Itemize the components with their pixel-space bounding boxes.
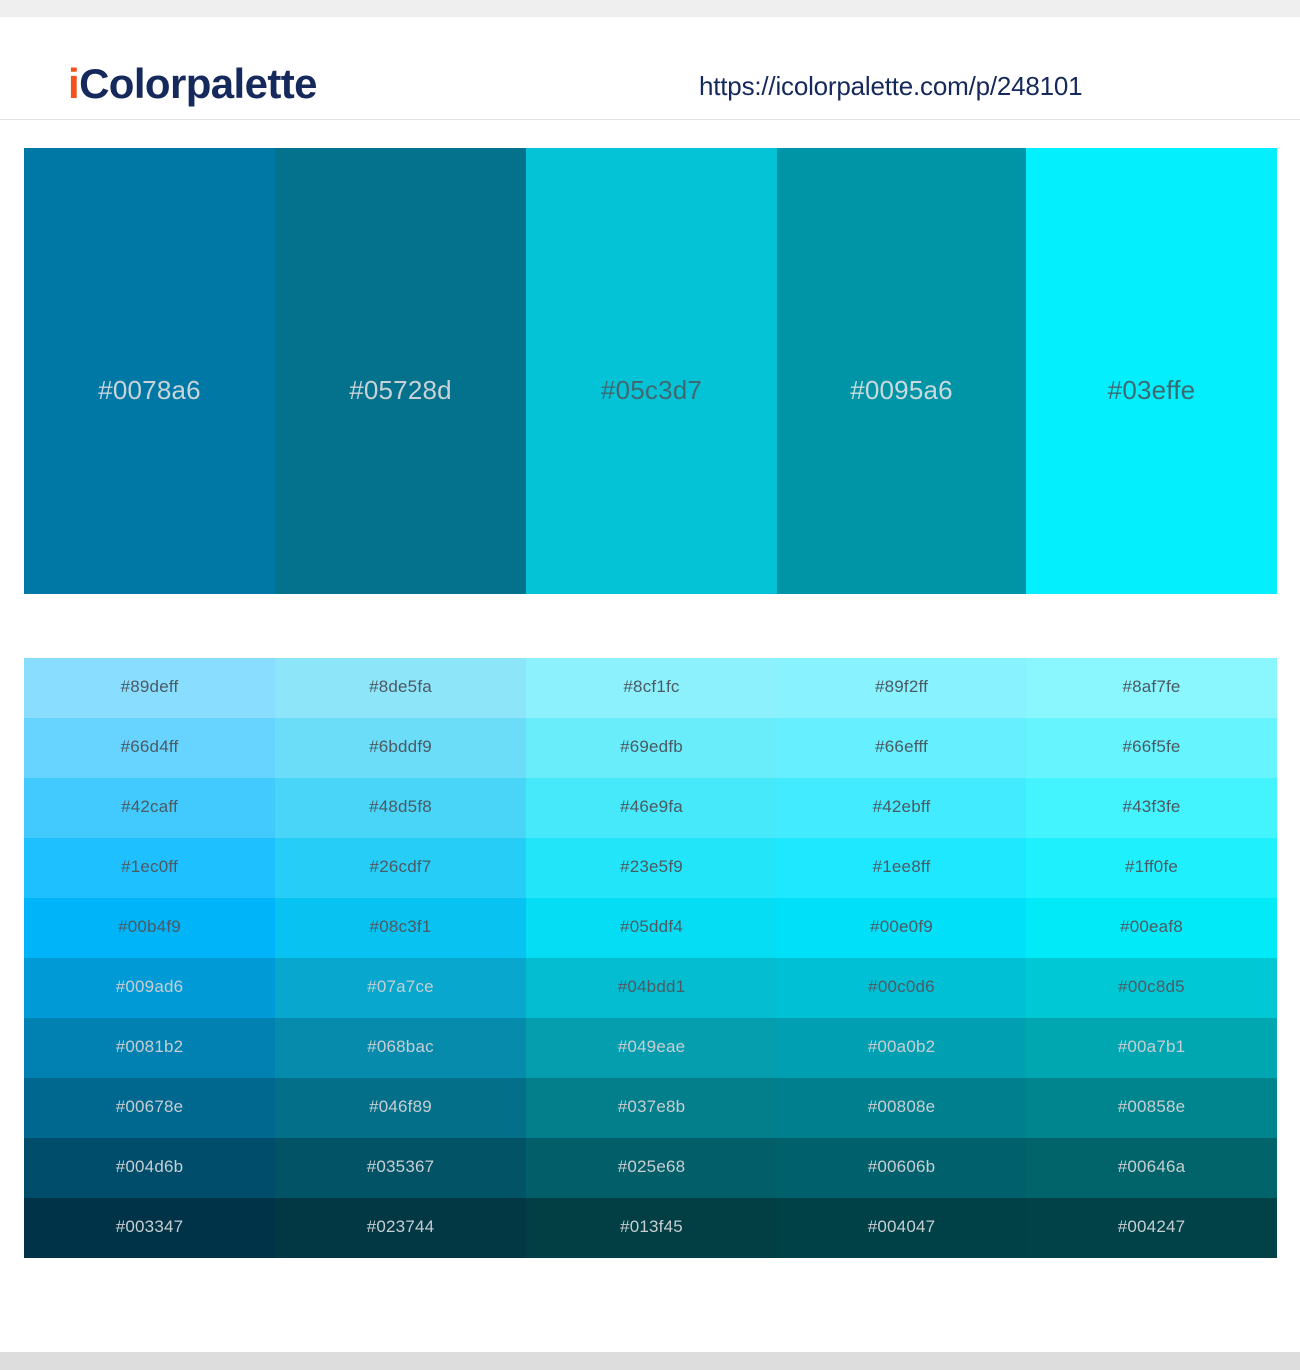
shade-cell[interactable]: #05ddf4 [526, 898, 777, 958]
palette-swatch[interactable]: #0095a6 [777, 148, 1026, 594]
shade-row: #00678e#046f89#037e8b#00808e#00858e [24, 1078, 1277, 1138]
shade-hex-label: #009ad6 [24, 977, 275, 997]
shade-hex-label: #26cdf7 [275, 857, 526, 877]
shade-hex-label: #00646a [1026, 1157, 1277, 1177]
shade-hex-label: #00b4f9 [24, 917, 275, 937]
shade-cell[interactable]: #00606b [777, 1138, 1026, 1198]
shade-cell[interactable]: #037e8b [526, 1078, 777, 1138]
shade-hex-label: #003347 [24, 1217, 275, 1237]
shade-cell[interactable]: #00678e [24, 1078, 275, 1138]
logo-letter-i: i [68, 60, 79, 107]
shade-hex-label: #23e5f9 [526, 857, 777, 877]
shade-hex-label: #89f2ff [777, 677, 1026, 697]
palette-swatch[interactable]: #0078a6 [24, 148, 275, 594]
shade-hex-label: #1ec0ff [24, 857, 275, 877]
palette-swatch-hex-label: #05c3d7 [526, 375, 777, 406]
shade-hex-label: #049eae [526, 1037, 777, 1057]
shade-cell[interactable]: #1ee8ff [777, 838, 1026, 898]
shade-cell[interactable]: #08c3f1 [275, 898, 526, 958]
shade-hex-label: #00c0d6 [777, 977, 1026, 997]
shade-hex-label: #8cf1fc [526, 677, 777, 697]
shade-hex-label: #00eaf8 [1026, 917, 1277, 937]
shade-cell[interactable]: #00eaf8 [1026, 898, 1277, 958]
top-decorative-strip [0, 0, 1300, 17]
shade-hex-label: #05ddf4 [526, 917, 777, 937]
shade-cell[interactable]: #004047 [777, 1198, 1026, 1258]
shade-cell[interactable]: #00e0f9 [777, 898, 1026, 958]
shade-hex-label: #013f45 [526, 1217, 777, 1237]
shade-hex-label: #66f5fe [1026, 737, 1277, 757]
palette-swatch[interactable]: #03effe [1026, 148, 1277, 594]
shade-hex-label: #00606b [777, 1157, 1026, 1177]
shade-hex-label: #46e9fa [526, 797, 777, 817]
shade-hex-label: #42caff [24, 797, 275, 817]
palette-swatch-hex-label: #05728d [275, 375, 526, 406]
palette-swatch-hex-label: #0078a6 [24, 375, 275, 406]
shade-row: #00b4f9#08c3f1#05ddf4#00e0f9#00eaf8 [24, 898, 1277, 958]
shade-cell[interactable]: #66d4ff [24, 718, 275, 778]
shade-hex-label: #8de5fa [275, 677, 526, 697]
shade-hex-label: #6bddf9 [275, 737, 526, 757]
shade-cell[interactable]: #0081b2 [24, 1018, 275, 1078]
site-header: iColorpalette https://icolorpalette.com/… [0, 17, 1300, 120]
shade-hex-label: #00a7b1 [1026, 1037, 1277, 1057]
shade-cell[interactable]: #00a7b1 [1026, 1018, 1277, 1078]
shade-hex-label: #04bdd1 [526, 977, 777, 997]
shade-cell[interactable]: #023744 [275, 1198, 526, 1258]
main-palette-swatches: #0078a6#05728d#05c3d7#0095a6#03effe [24, 148, 1277, 594]
shade-cell[interactable]: #1ff0fe [1026, 838, 1277, 898]
shade-hex-label: #00a0b2 [777, 1037, 1026, 1057]
shade-row: #004d6b#035367#025e68#00606b#00646a [24, 1138, 1277, 1198]
shade-hex-label: #00858e [1026, 1097, 1277, 1117]
shade-cell[interactable]: #00a0b2 [777, 1018, 1026, 1078]
shade-row: #1ec0ff#26cdf7#23e5f9#1ee8ff#1ff0fe [24, 838, 1277, 898]
shade-row: #66d4ff#6bddf9#69edfb#66efff#66f5fe [24, 718, 1277, 778]
palette-url: https://icolorpalette.com/p/248101 [699, 71, 1082, 102]
shade-cell[interactable]: #69edfb [526, 718, 777, 778]
shade-cell[interactable]: #025e68 [526, 1138, 777, 1198]
shades-grid: #89deff#8de5fa#8cf1fc#89f2ff#8af7fe#66d4… [24, 658, 1277, 1258]
shade-cell[interactable]: #46e9fa [526, 778, 777, 838]
shade-hex-label: #1ff0fe [1026, 857, 1277, 877]
shade-hex-label: #89deff [24, 677, 275, 697]
shade-cell[interactable]: #00808e [777, 1078, 1026, 1138]
shade-hex-label: #1ee8ff [777, 857, 1026, 877]
shade-cell[interactable]: #8de5fa [275, 658, 526, 718]
shade-cell[interactable]: #004247 [1026, 1198, 1277, 1258]
shade-cell[interactable]: #66f5fe [1026, 718, 1277, 778]
shade-cell[interactable]: #00c8d5 [1026, 958, 1277, 1018]
shade-hex-label: #0081b2 [24, 1037, 275, 1057]
shade-hex-label: #00e0f9 [777, 917, 1026, 937]
logo-wordmark: Colorpalette [79, 60, 317, 107]
shade-cell[interactable]: #035367 [275, 1138, 526, 1198]
shade-hex-label: #00c8d5 [1026, 977, 1277, 997]
shade-cell[interactable]: #89f2ff [777, 658, 1026, 718]
shade-hex-label: #07a7ce [275, 977, 526, 997]
shade-row: #42caff#48d5f8#46e9fa#42ebff#43f3fe [24, 778, 1277, 838]
shade-cell[interactable]: #013f45 [526, 1198, 777, 1258]
palette-swatch-hex-label: #0095a6 [777, 375, 1026, 406]
shade-cell[interactable]: #003347 [24, 1198, 275, 1258]
shade-hex-label: #08c3f1 [275, 917, 526, 937]
shade-cell[interactable]: #48d5f8 [275, 778, 526, 838]
shade-hex-label: #004047 [777, 1217, 1026, 1237]
shade-cell[interactable]: #00b4f9 [24, 898, 275, 958]
palette-swatch-hex-label: #03effe [1026, 375, 1277, 406]
bottom-decorative-strip [0, 1352, 1300, 1370]
shade-row: #89deff#8de5fa#8cf1fc#89f2ff#8af7fe [24, 658, 1277, 718]
shade-cell[interactable]: #8cf1fc [526, 658, 777, 718]
shade-cell[interactable]: #42caff [24, 778, 275, 838]
shade-hex-label: #023744 [275, 1217, 526, 1237]
shade-hex-label: #00678e [24, 1097, 275, 1117]
site-logo[interactable]: iColorpalette [68, 63, 317, 105]
palette-swatch[interactable]: #05c3d7 [526, 148, 777, 594]
shade-cell[interactable]: #43f3fe [1026, 778, 1277, 838]
shade-hex-label: #025e68 [526, 1157, 777, 1177]
shade-cell[interactable]: #00c0d6 [777, 958, 1026, 1018]
shade-hex-label: #42ebff [777, 797, 1026, 817]
shade-cell[interactable]: #42ebff [777, 778, 1026, 838]
shade-hex-label: #8af7fe [1026, 677, 1277, 697]
shade-cell[interactable]: #1ec0ff [24, 838, 275, 898]
shade-row: #003347#023744#013f45#004047#004247 [24, 1198, 1277, 1258]
shade-cell[interactable]: #04bdd1 [526, 958, 777, 1018]
shade-cell[interactable]: #00858e [1026, 1078, 1277, 1138]
shade-cell[interactable]: #004d6b [24, 1138, 275, 1198]
shade-cell[interactable]: #049eae [526, 1018, 777, 1078]
shade-hex-label: #66d4ff [24, 737, 275, 757]
shade-cell[interactable]: #23e5f9 [526, 838, 777, 898]
shade-cell[interactable]: #8af7fe [1026, 658, 1277, 718]
shade-hex-label: #068bac [275, 1037, 526, 1057]
shade-hex-label: #004247 [1026, 1217, 1277, 1237]
shade-hex-label: #004d6b [24, 1157, 275, 1177]
shade-row: #009ad6#07a7ce#04bdd1#00c0d6#00c8d5 [24, 958, 1277, 1018]
shade-hex-label: #43f3fe [1026, 797, 1277, 817]
shade-hex-label: #48d5f8 [275, 797, 526, 817]
shade-cell[interactable]: #26cdf7 [275, 838, 526, 898]
palette-swatch[interactable]: #05728d [275, 148, 526, 594]
shade-cell[interactable]: #009ad6 [24, 958, 275, 1018]
shade-row: #0081b2#068bac#049eae#00a0b2#00a7b1 [24, 1018, 1277, 1078]
shade-hex-label: #037e8b [526, 1097, 777, 1117]
shade-cell[interactable]: #66efff [777, 718, 1026, 778]
shade-hex-label: #035367 [275, 1157, 526, 1177]
shade-cell[interactable]: #07a7ce [275, 958, 526, 1018]
shade-cell[interactable]: #00646a [1026, 1138, 1277, 1198]
shade-cell[interactable]: #046f89 [275, 1078, 526, 1138]
shade-cell[interactable]: #89deff [24, 658, 275, 718]
shade-cell[interactable]: #6bddf9 [275, 718, 526, 778]
shade-hex-label: #00808e [777, 1097, 1026, 1117]
shade-hex-label: #66efff [777, 737, 1026, 757]
shade-hex-label: #046f89 [275, 1097, 526, 1117]
shade-cell[interactable]: #068bac [275, 1018, 526, 1078]
shade-hex-label: #69edfb [526, 737, 777, 757]
